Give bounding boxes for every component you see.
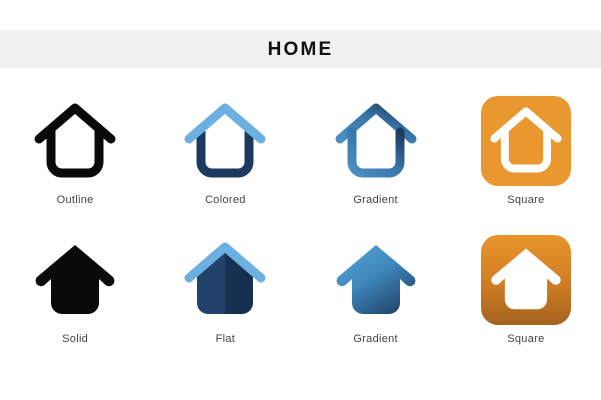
header-band: HOME bbox=[0, 30, 601, 68]
home-gradient-outline-icon[interactable] bbox=[330, 95, 422, 187]
icon-cell-square-flat[interactable]: Square bbox=[451, 95, 601, 206]
icon-cell-gradient-outline[interactable]: Gradient bbox=[301, 95, 451, 206]
icon-label: Flat bbox=[216, 334, 236, 345]
home-gradient-solid-icon-svg bbox=[334, 241, 418, 319]
icon-cell-flat[interactable]: Flat bbox=[150, 234, 300, 345]
icon-label: Outline bbox=[57, 195, 94, 206]
home-outline-icon[interactable] bbox=[29, 95, 121, 187]
home-square-flat-icon[interactable] bbox=[480, 95, 572, 187]
home-solid-icon-svg bbox=[33, 241, 117, 319]
home-gradient-outline-icon-svg bbox=[334, 102, 418, 180]
icon-label: Gradient bbox=[353, 195, 398, 206]
page-title: HOME bbox=[268, 40, 334, 59]
home-flat-icon[interactable] bbox=[179, 234, 271, 326]
icon-cell-gradient-solid[interactable]: Gradient bbox=[301, 234, 451, 345]
home-gradient-solid-icon[interactable] bbox=[330, 234, 422, 326]
icon-cell-colored[interactable]: Colored bbox=[150, 95, 300, 206]
icon-label: Gradient bbox=[353, 334, 398, 345]
home-colored-icon[interactable] bbox=[179, 95, 271, 187]
home-outline-icon-svg bbox=[33, 102, 117, 180]
icon-row: Solid bbox=[0, 234, 601, 345]
icon-cell-outline[interactable]: Outline bbox=[0, 95, 150, 206]
icon-label: Colored bbox=[205, 195, 246, 206]
icon-label: Square bbox=[507, 334, 544, 345]
icon-label: Square bbox=[507, 195, 544, 206]
home-solid-icon[interactable] bbox=[29, 234, 121, 326]
home-square-gradient-icon-svg bbox=[480, 234, 572, 326]
icon-label: Solid bbox=[62, 334, 88, 345]
home-colored-icon-svg bbox=[183, 102, 267, 180]
home-flat-icon-svg bbox=[183, 241, 267, 319]
icon-grid: Outline Colored bbox=[0, 95, 601, 345]
icon-cell-solid[interactable]: Solid bbox=[0, 234, 150, 345]
icon-row: Outline Colored bbox=[0, 95, 601, 206]
home-square-gradient-icon[interactable] bbox=[480, 234, 572, 326]
icon-cell-square-gradient[interactable]: Square bbox=[451, 234, 601, 345]
home-square-flat-icon-svg bbox=[480, 95, 572, 187]
icon-set-page: HOME Outline bbox=[0, 0, 601, 400]
